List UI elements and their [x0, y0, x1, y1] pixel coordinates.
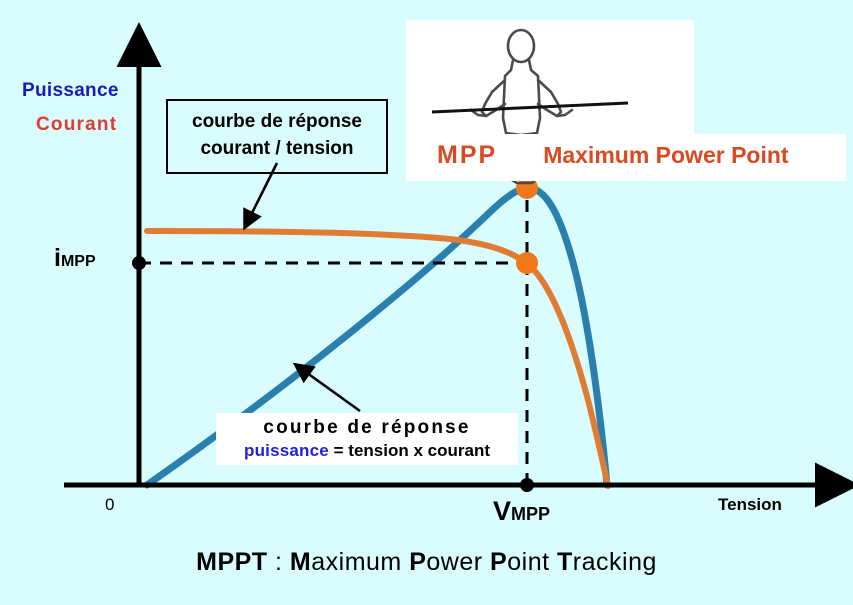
annotation-power-arrow [296, 365, 360, 411]
title-separator: : [268, 548, 290, 576]
vmpp-symbol: V [493, 496, 511, 526]
origin-label: 0 [105, 495, 114, 515]
title-acronym: MPPT [196, 548, 267, 576]
figure-canvas: MPPMaximum Power Point courbe de réponse… [0, 0, 853, 605]
impp-symbol: i [54, 244, 61, 272]
figure-title: MPPT : Maximum Power Point Tracking [0, 548, 853, 577]
annotation-current-arrow [245, 163, 277, 227]
y-axis-label-current: Courant [36, 114, 117, 136]
title-word-initial: P [409, 548, 426, 576]
title-word-rest: racking [573, 548, 657, 576]
title-word-rest: ower [426, 548, 490, 576]
vmpp-subscript: MPP [511, 504, 550, 524]
title-word-initial: P [490, 548, 507, 576]
x-axis-label: Tension [718, 495, 782, 515]
impp-subscript: MPP [61, 253, 96, 270]
title-word-rest: aximum [311, 548, 409, 576]
y-tick-label-impp: iMPP [54, 244, 96, 273]
x-tick-label-vmpp: VMPP [493, 496, 550, 527]
title-word-initial: T [557, 548, 573, 576]
title-word-initial: M [290, 548, 311, 576]
y-axis-label-power: Puissance [22, 80, 119, 102]
title-word-rest: oint [507, 548, 557, 576]
